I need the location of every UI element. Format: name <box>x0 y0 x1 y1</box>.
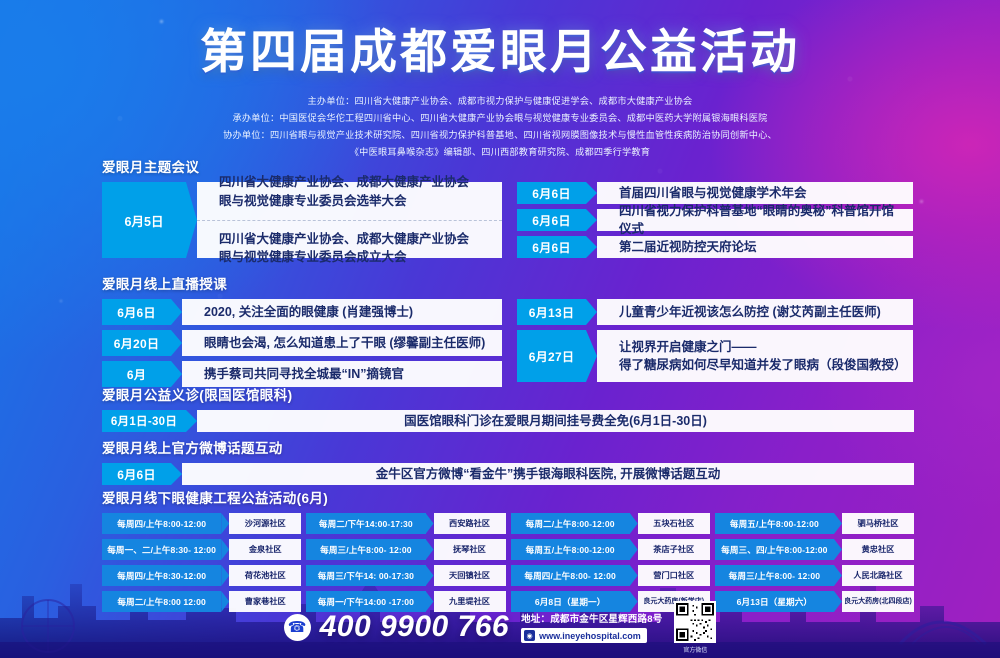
weibo-row[interactable]: 6月6日 金牛区官方微博“看金牛”携手银海眼科医院, 开展微博话题互动 <box>102 463 914 485</box>
grid-date: 每周二/下午14:00-17:30 <box>306 513 425 534</box>
website-link[interactable]: ◉ www.ineyehospital.com <box>521 628 647 643</box>
grid-cell[interactable]: 每周三/下午14: 00-17:30天回镇社区 <box>306 565 505 586</box>
qr-code-icon <box>674 601 716 643</box>
poster-canvas: 第四届成都爱眼月公益活动 主办单位：四川省大健康产业协会、成都市视力保护与健康促… <box>0 0 1000 658</box>
meeting-date-badge: 6月5日 <box>102 182 186 258</box>
row-text: 四川省视力保护科普基地“眼睛的奥秘”科普馆开馆仪式 <box>597 209 913 231</box>
phone-block[interactable]: ☎ 400 9900 766 <box>284 610 510 644</box>
live-row[interactable]: 6月13日 儿童青少年近视该怎么防控 (谢艾芮副主任医师) <box>517 299 913 325</box>
grid-date: 每周三/下午14: 00-17:30 <box>306 565 425 586</box>
meeting-item[interactable]: 四川省大健康产业协会、成都大健康产业协会 眼与视觉健康专业委员会成立大会 <box>197 220 502 277</box>
decor-dot <box>160 20 163 23</box>
qr-caption: 官方微信 <box>683 645 707 654</box>
grid-cell[interactable]: 每周二/上午8:00-12:00五块石社区 <box>511 513 710 534</box>
row-text: 眼睛也会渴, 怎么知道患上了干眼 (缪馨副主任医师) <box>182 330 502 356</box>
grid-place: 黄忠社区 <box>842 539 914 560</box>
row-text: 第二届近视防控天府论坛 <box>597 236 913 258</box>
grid-cell[interactable]: 每周四/上午8:30-12:00荷花池社区 <box>102 565 301 586</box>
grid-cell[interactable]: 每周一、二/上午8:30- 12:00金泉社区 <box>102 539 301 560</box>
section-offline: 爱眼月线下眼健康工程公益活动(6月) 每周四/上午8:00-12:00沙河源社区… <box>102 487 914 612</box>
grid-date: 每周五/上午8:00-12:00 <box>715 513 834 534</box>
live-row[interactable]: 6月20日 眼睛也会渴, 怎么知道患上了干眼 (缪馨副主任医师) <box>102 330 502 356</box>
meeting-item-line2: 眼与视觉健康专业委员会成立大会 <box>219 248 488 267</box>
grid-cell[interactable]: 每周三、四/上午8:00-12:00黄忠社区 <box>715 539 914 560</box>
grid-cell[interactable]: 每周四/上午8:00- 12:00营门口社区 <box>511 565 710 586</box>
grid-cell[interactable]: 每周五/上午8:00-12:00茶店子社区 <box>511 539 710 560</box>
grid-date: 每周三/上午8:00- 12:00 <box>715 565 834 586</box>
grid-place: 五块石社区 <box>638 513 710 534</box>
section-live: 爱眼月线上直播授课 6月6日 2020, 关注全面的眼健康 (肖建强博士) 6月… <box>102 273 914 392</box>
grid-cell[interactable]: 每周二/下午14:00-17:30西安路社区 <box>306 513 505 534</box>
decor-dot <box>60 300 62 302</box>
grid-date: 每周四/上午8:00-12:00 <box>102 513 221 534</box>
section-clinic: 爱眼月公益义诊(限国医馆眼科) 6月1日-30日 国医馆眼科门诊在爱眼月期间挂号… <box>102 384 914 437</box>
grid-date: 每周三、四/上午8:00-12:00 <box>715 539 834 560</box>
footer-contact-bar: ☎ 400 9900 766 地址：成都市金牛区星辉西路8号 ◉ www.ine… <box>0 596 1000 658</box>
grid-date: 每周四/上午8:00- 12:00 <box>511 565 630 586</box>
grid-date: 每周一、二/上午8:30- 12:00 <box>102 539 221 560</box>
row-text-multiline: 让视界开启健康之门—— 得了糖尿病如何尽早知道并发了眼病（段俊国教授） <box>597 330 913 382</box>
row-text: 国医馆眼科门诊在爱眼月期间挂号费全免(6月1日-30日) <box>197 410 914 432</box>
address-text: 地址：成都市金牛区星辉西路8号 <box>521 611 662 625</box>
section-title-offline: 爱眼月线下眼健康工程公益活动(6月) <box>102 487 914 507</box>
phone-icon: ☎ <box>284 614 311 641</box>
live-rows-left: 6月6日 2020, 关注全面的眼健康 (肖建强博士) 6月20日 眼睛也会渴,… <box>102 299 502 392</box>
grid-date: 每周三/上午8:00- 12:00 <box>306 539 425 560</box>
row-date-badge: 6月6日 <box>517 236 586 258</box>
poster-header: 第四届成都爱眼月公益活动 主办单位：四川省大健康产业协会、成都市视力保护与健康促… <box>0 26 1000 161</box>
grid-date: 每周二/上午8:00-12:00 <box>511 513 630 534</box>
clinic-row[interactable]: 6月1日-30日 国医馆眼科门诊在爱眼月期间挂号费全免(6月1日-30日) <box>102 410 914 432</box>
organizer-list: 主办单位：四川省大健康产业协会、成都市视力保护与健康促进学会、成都市大健康产业协… <box>0 93 1000 161</box>
row-date-badge: 6月20日 <box>102 330 171 356</box>
organizer-line: 协办单位：四川省眼与视觉产业技术研究院、四川省视力保护科普基地、四川省视网膜图像… <box>0 127 1000 144</box>
meeting-body: 四川省大健康产业协会、成都大健康产业协会 眼与视觉健康专业委员会选举大会 四川省… <box>197 182 502 258</box>
row-date-badge: 6月6日 <box>102 463 171 485</box>
row-text: 2020, 关注全面的眼健康 (肖建强博士) <box>182 299 502 325</box>
row-date-badge: 6月27日 <box>517 330 586 382</box>
row-text: 金牛区官方微博“看金牛”携手银海眼科医院, 开展微博话题互动 <box>182 463 914 485</box>
grid-place: 茶店子社区 <box>638 539 710 560</box>
row-date-badge: 6月6日 <box>102 299 171 325</box>
row-date-badge: 6月6日 <box>517 209 586 231</box>
meeting-row[interactable]: 6月6日 四川省视力保护科普基地“眼睛的奥秘”科普馆开馆仪式 <box>517 209 913 231</box>
grid-date: 每周五/上午8:00-12:00 <box>511 539 630 560</box>
decor-dot <box>920 200 923 203</box>
qr-block: 官方微信 <box>674 601 716 654</box>
row-text: 儿童青少年近视该怎么防控 (谢艾芮副主任医师) <box>597 299 913 325</box>
grid-place: 荷花池社区 <box>229 565 301 586</box>
live-row[interactable]: 6月27日 让视界开启健康之门—— 得了糖尿病如何尽早知道并发了眼病（段俊国教授… <box>517 330 913 382</box>
meeting-block-june5[interactable]: 6月5日 四川省大健康产业协会、成都大健康产业协会 眼与视觉健康专业委员会选举大… <box>102 182 502 258</box>
organizer-line: 《中医眼耳鼻喉杂志》编辑部、四川西部教育研究院、成都四季行学教育 <box>0 144 1000 161</box>
meeting-item[interactable]: 四川省大健康产业协会、成都大健康产业协会 眼与视觉健康专业委员会选举大会 <box>197 164 502 220</box>
section-title-weibo: 爱眼月线上官方微博话题互动 <box>102 437 914 457</box>
live-rows-right: 6月13日 儿童青少年近视该怎么防控 (谢艾芮副主任医师) 6月27日 让视界开… <box>517 299 913 392</box>
grid-cell[interactable]: 每周三/上午8:00- 12:00抚琴社区 <box>306 539 505 560</box>
organizer-line: 承办单位：中国医促会华佗工程四川省中心、四川省大健康产业协会眼与视觉健康专业委员… <box>0 110 1000 127</box>
grid-cell[interactable]: 每周五/上午8:00-12:00驷马桥社区 <box>715 513 914 534</box>
live-row[interactable]: 6月6日 2020, 关注全面的眼健康 (肖建强博士) <box>102 299 502 325</box>
grid-place: 金泉社区 <box>229 539 301 560</box>
address-block: 地址：成都市金牛区星辉西路8号 ◉ www.ineyehospital.com <box>521 611 662 643</box>
website-text: www.ineyehospital.com <box>539 631 641 641</box>
grid-place: 沙河源社区 <box>229 513 301 534</box>
grid-place: 抚琴社区 <box>434 539 506 560</box>
meeting-rows-right: 6月6日 首届四川省眼与视觉健康学术年会 6月6日 四川省视力保护科普基地“眼睛… <box>517 182 913 263</box>
grid-place: 人民北路社区 <box>842 565 914 586</box>
meeting-item-line1: 四川省大健康产业协会、成都大健康产业协会 <box>219 173 488 192</box>
meeting-row[interactable]: 6月6日 首届四川省眼与视觉健康学术年会 <box>517 182 913 204</box>
row-date-badge: 6月13日 <box>517 299 586 325</box>
meeting-row[interactable]: 6月6日 第二届近视防控天府论坛 <box>517 236 913 258</box>
row-date-badge: 6月1日-30日 <box>102 410 186 432</box>
meeting-item-line1: 四川省大健康产业协会、成都大健康产业协会 <box>219 230 488 249</box>
phone-number: 400 9900 766 <box>320 610 510 644</box>
grid-place: 驷马桥社区 <box>842 513 914 534</box>
section-meetings: 爱眼月主题会议 6月5日 四川省大健康产业协会、成都大健康产业协会 眼与视觉健康… <box>102 156 914 263</box>
row-text-line2: 得了糖尿病如何尽早知道并发了眼病（段俊国教授） <box>619 356 901 374</box>
page-title: 第四届成都爱眼月公益活动 <box>0 26 1000 79</box>
section-weibo: 爱眼月线上官方微博话题互动 6月6日 金牛区官方微博“看金牛”携手银海眼科医院,… <box>102 437 914 490</box>
grid-place: 营门口社区 <box>638 565 710 586</box>
grid-cell[interactable]: 每周四/上午8:00-12:00沙河源社区 <box>102 513 301 534</box>
section-title-live: 爱眼月线上直播授课 <box>102 273 914 293</box>
grid-cell[interactable]: 每周三/上午8:00- 12:00人民北路社区 <box>715 565 914 586</box>
row-text-line1: 让视界开启健康之门—— <box>619 338 901 356</box>
globe-icon: ◉ <box>524 630 535 641</box>
section-title-clinic: 爱眼月公益义诊(限国医馆眼科) <box>102 384 914 404</box>
meeting-item-line2: 眼与视觉健康专业委员会选举大会 <box>219 192 488 211</box>
row-text: 首届四川省眼与视觉健康学术年会 <box>597 182 913 204</box>
row-date-badge: 6月6日 <box>517 182 586 204</box>
grid-place: 天回镇社区 <box>434 565 506 586</box>
organizer-line: 主办单位：四川省大健康产业协会、成都市视力保护与健康促进学会、成都市大健康产业协… <box>0 93 1000 110</box>
grid-date: 每周四/上午8:30-12:00 <box>102 565 221 586</box>
grid-place: 西安路社区 <box>434 513 506 534</box>
